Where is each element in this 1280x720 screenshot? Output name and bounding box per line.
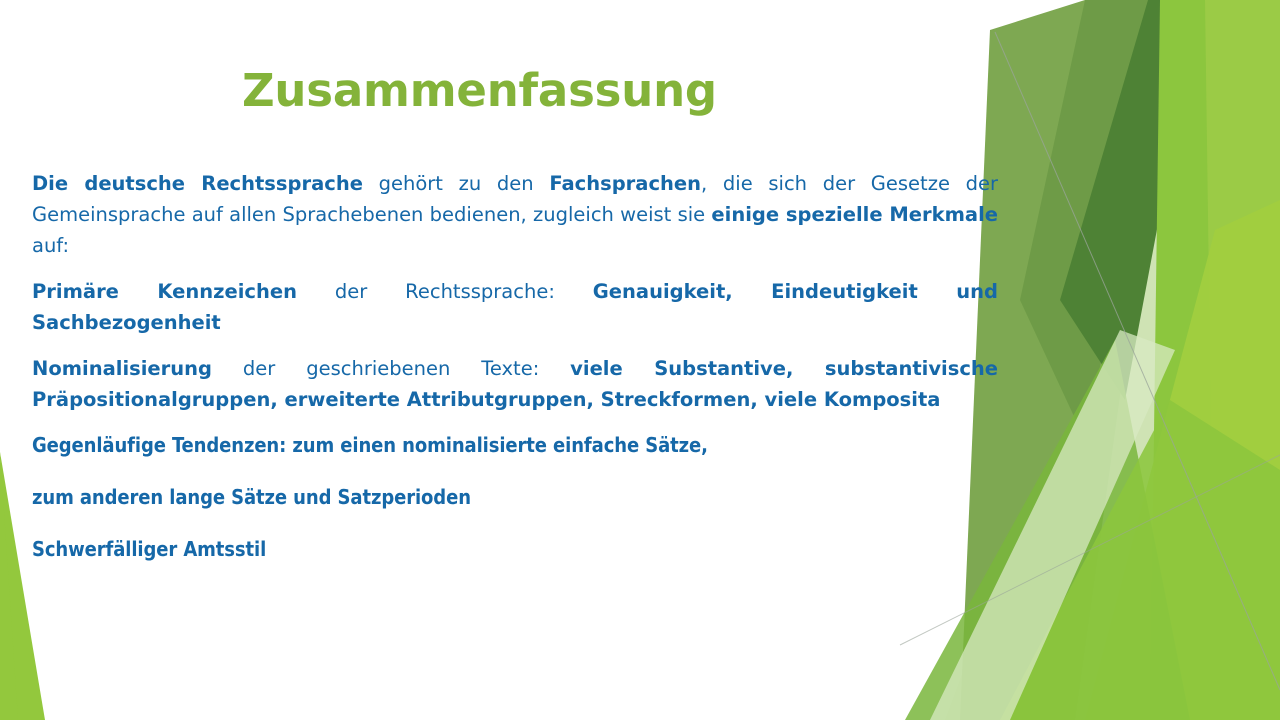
facet-shape-pale-3 (1000, 160, 1280, 720)
text-run: auf: (32, 234, 69, 257)
text-run: Die deutsche Rechtssprache (32, 172, 363, 195)
title-block: Zusammenfassung (242, 66, 1002, 116)
text-run: Schwerfälliger Amtsstil (32, 537, 266, 561)
body-paragraph-6: Schwerfälliger Amtsstil (32, 534, 998, 565)
text-run: Gegenläufige Tendenzen: zum einen nomina… (32, 433, 708, 457)
body-paragraph-1: Die deutsche Rechtssprache gehört zu den… (32, 168, 998, 261)
text-run: der Rechtssprache: (297, 280, 593, 303)
text-run: Primäre Kennzeichen (32, 280, 297, 303)
text-run: einige spezielle Merkmale (711, 203, 998, 226)
text-run: gehört zu den (363, 172, 549, 195)
facet-shape-bright-2 (1205, 0, 1280, 720)
body-paragraph-2: Primäre Kennzeichen der Rechtssprache: G… (32, 276, 998, 338)
body-paragraph-3: Nominalisierung der geschriebenen Texte:… (32, 353, 998, 415)
text-run: zum anderen lange Sätze und Satzperioden (32, 485, 471, 509)
facet-shape-bright-1 (1150, 0, 1280, 720)
facet-hairline-1 (995, 32, 1280, 690)
text-run: Nominalisierung (32, 357, 212, 380)
text-run: Fachsprachen (549, 172, 701, 195)
text-run: der geschriebenen Texte: (212, 357, 570, 380)
body-paragraph-4: Gegenläufige Tendenzen: zum einen nomina… (32, 430, 998, 461)
facet-shape-olive-2 (1020, 0, 1175, 440)
facet-shape-leaf-1 (1085, 200, 1280, 720)
body-paragraph-5: zum anderen lange Sätze und Satzperioden (32, 482, 998, 513)
facet-shape-dark-1 (1060, 0, 1200, 400)
slide: Zusammenfassung Die deutsche Rechtssprac… (0, 0, 1280, 720)
body-content: Die deutsche Rechtssprache gehört zu den… (32, 168, 998, 586)
page-title: Zusammenfassung (242, 66, 1002, 116)
facet-shape-pale-1 (1035, 0, 1280, 720)
facet-shape-leaf-3 (1000, 400, 1280, 720)
